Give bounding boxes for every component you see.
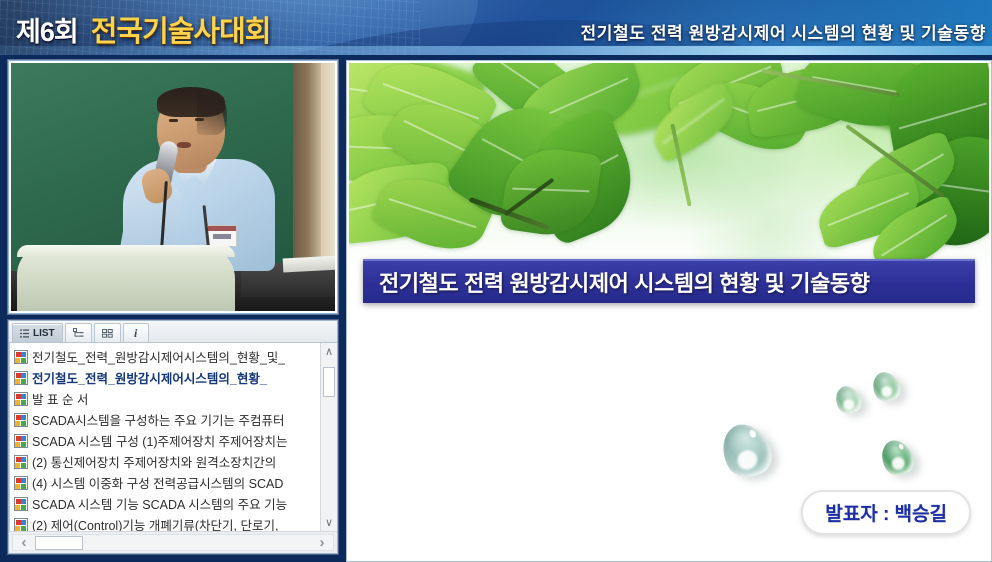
slide-file-icon xyxy=(14,497,28,511)
outline-tree-icon xyxy=(73,328,84,338)
water-droplet xyxy=(875,435,918,481)
tab-info[interactable]: i xyxy=(123,323,149,342)
scroll-down-icon[interactable]: ∨ xyxy=(321,514,337,531)
list-item[interactable]: 전기철도_전력_원방감시제어시스템의_현황_ xyxy=(12,367,320,388)
list-horizontal-scrollbar[interactable]: ‹ › xyxy=(12,534,334,551)
scroll-up-icon[interactable]: ∧ xyxy=(321,343,337,360)
droplet-specular xyxy=(748,428,758,439)
desk-papers xyxy=(283,255,335,272)
slide-file-icon xyxy=(14,455,28,469)
water-droplet xyxy=(831,382,865,418)
droplet-highlight xyxy=(842,398,856,412)
list-item[interactable]: 발 표 순 서 xyxy=(12,388,320,409)
app-header: 제6회 전국기술사대회 전기철도 전력 원방감시제어 시스템의 현황 및 기술동… xyxy=(0,0,992,55)
list-vertical-scrollbar[interactable]: ∧ ∨ xyxy=(320,343,337,531)
list-item-label: 전기철도_전력_원방감시제어시스템의_현황_및_ xyxy=(32,347,285,366)
tab-list[interactable]: LIST xyxy=(12,323,63,342)
list-item[interactable]: SCADA시스템을 구성하는 주요 기기는 주컴퓨터 xyxy=(12,409,320,430)
speaker-name-badge xyxy=(207,225,237,247)
list-item-label: (2) 통신제어장치 주제어장치와 원격소장치간의 xyxy=(32,452,276,471)
droplet-highlight xyxy=(879,385,894,400)
list-horizontal-scrollbar-area: ‹ › xyxy=(9,531,337,553)
info-icon: i xyxy=(134,327,137,339)
list-item-label: SCADA시스템을 구성하는 주요 기기는 주컴퓨터 xyxy=(32,410,284,429)
horizontal-scroll-thumb[interactable] xyxy=(35,536,83,550)
info-letter: i xyxy=(134,326,137,340)
list-item[interactable]: (2) 제어(Control)기능 개폐기류(차단기, 단로기, xyxy=(12,514,320,531)
slide-file-icon xyxy=(14,434,28,448)
presenter-badge: 발표자 : 백승길 xyxy=(801,490,971,535)
list-item-label: 발 표 순 서 xyxy=(32,389,88,408)
list-item[interactable]: 전기철도_전력_원방감시제어시스템의_현황_및_ xyxy=(12,346,320,367)
list-item[interactable]: (2) 통신제어장치 주제어장치와 원격소장치간의 xyxy=(12,451,320,472)
droplet-highlight xyxy=(734,447,761,474)
brand-logo: 제6회 전국기술사대회 xyxy=(16,8,270,50)
slide-list: 전기철도_전력_원방감시제어시스템의_현황_및_ 전기철도_전력_원방감시제어시… xyxy=(9,343,337,531)
video-stage xyxy=(11,63,335,311)
wall-right-light xyxy=(321,63,335,271)
page-title: 전기철도 전력 원방감시제어 시스템의 현황 및 기술동향 xyxy=(581,19,986,44)
slide-list-items: 전기철도_전력_원방감시제어시스템의_현황_및_ 전기철도_전력_원방감시제어시… xyxy=(10,343,320,531)
brand-main: 전국기술사대회 xyxy=(91,8,271,50)
slide-file-icon xyxy=(14,413,28,427)
slide-file-icon xyxy=(14,392,28,406)
vertical-scroll-thumb[interactable] xyxy=(323,367,335,397)
list-icon xyxy=(20,329,29,338)
presenter-name: 발표자 : 백승길 xyxy=(825,504,947,525)
tab-list-label: LIST xyxy=(33,328,55,339)
slide-list-panel: LIST xyxy=(8,320,338,554)
slide-title: 전기철도 전력 원방감시제어 시스템의 현황 및 기술동향 xyxy=(379,266,870,298)
tab-thumbnails[interactable] xyxy=(94,323,121,342)
scroll-right-icon[interactable]: › xyxy=(311,534,333,551)
tab-outline[interactable] xyxy=(65,323,92,342)
droplet-highlight xyxy=(889,455,907,473)
list-item-label: (2) 제어(Control)기능 개폐기류(차단기, 단로기, xyxy=(32,515,278,531)
list-item[interactable]: SCADA 시스템 구성 (1)주제어장치 주제어장치는 xyxy=(12,430,320,451)
video-player[interactable] xyxy=(8,60,338,314)
water-droplet xyxy=(867,368,904,407)
slide-file-icon xyxy=(14,476,28,490)
slide-file-icon xyxy=(14,518,28,532)
speaker-eye-right xyxy=(195,118,204,121)
list-item[interactable]: (4) 시스템 이중화 구성 전력공급시스템의 SCAD xyxy=(12,472,320,493)
speaker-mouth xyxy=(177,142,191,148)
list-item-label: SCADA 시스템 기능 SCADA 시스템의 주요 기능 xyxy=(32,494,287,513)
list-item-label: SCADA 시스템 구성 (1)주제어장치 주제어장치는 xyxy=(32,431,288,450)
speaker-eye-left xyxy=(169,119,178,122)
slide-content: 전기철도 전력 원방감시제어 시스템의 현황 및 기술동향 발표자 : 백승길 xyxy=(349,63,989,559)
list-panel-tabs: LIST xyxy=(9,321,337,343)
scroll-left-icon[interactable]: ‹ xyxy=(13,534,35,551)
speaker-hair-side xyxy=(197,93,227,135)
slide-file-icon xyxy=(14,350,28,364)
water-droplet xyxy=(713,416,779,485)
list-item[interactable]: SCADA 시스템 기능 SCADA 시스템의 주요 기능 xyxy=(12,493,320,514)
slide-title-bar: 전기철도 전력 원방감시제어 시스템의 현황 및 기술동향 xyxy=(363,259,975,303)
slide-viewer[interactable]: 전기철도 전력 원방감시제어 시스템의 현황 및 기술동향 발표자 : 백승길 xyxy=(346,60,992,562)
list-item-label: 전기철도_전력_원방감시제어시스템의_현황_ xyxy=(32,368,267,387)
podium-top xyxy=(17,245,235,257)
droplet-specular xyxy=(898,443,904,450)
slide-file-icon xyxy=(14,371,28,385)
brand-prefix: 제6회 xyxy=(16,10,78,49)
grid-thumbnails-icon xyxy=(102,329,113,338)
list-item-label: (4) 시스템 이중화 구성 전력공급시스템의 SCAD xyxy=(32,473,283,492)
